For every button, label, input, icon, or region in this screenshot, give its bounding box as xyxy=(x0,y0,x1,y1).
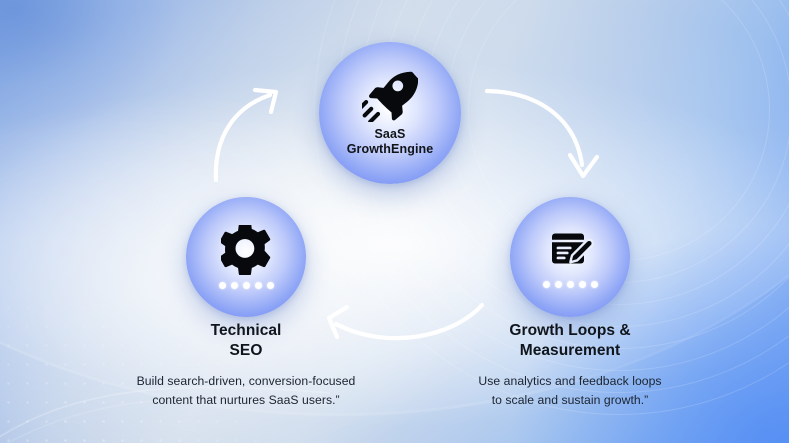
hub-node[interactable]: SaaS GrowthEngine xyxy=(319,42,461,184)
caption-technical-seo: Technical SEO Build search-driven, conve… xyxy=(66,321,426,411)
technical-seo-title-line1: Technical xyxy=(211,322,282,339)
technical-seo-description: Build search-driven, conversion-focused … xyxy=(66,372,426,412)
slide-canvas: SaaS GrowthEngine Technical SEO xyxy=(0,0,789,443)
gear-icon xyxy=(221,225,271,275)
dot xyxy=(219,282,226,289)
growth-loops-description: Use analytics and feedback loops to scal… xyxy=(405,372,735,412)
technical-seo-bubble[interactable] xyxy=(186,197,306,317)
caption-growth-loops-measurement: Growth Loops & Measurement Use analytics… xyxy=(405,321,735,411)
dot xyxy=(591,281,598,288)
growth-loops-bubble[interactable] xyxy=(510,197,630,317)
technical-seo-title-line2: SEO xyxy=(230,342,263,359)
growth-loops-description-line1: Use analytics and feedback loops xyxy=(478,374,661,388)
technical-seo-description-line1: Build search-driven, conversion-focused xyxy=(137,374,356,388)
step-node-growth-loops-measurement[interactable] xyxy=(510,197,630,317)
dot xyxy=(579,281,586,288)
hub-label-line1: SaaS xyxy=(347,127,434,142)
technical-seo-description-line2: content that nurtures SaaS users.” xyxy=(152,393,339,407)
growth-loops-progress-dots xyxy=(543,281,598,288)
dot xyxy=(255,282,262,289)
growth-loops-description-line2: to scale and sustain growth.” xyxy=(492,393,649,407)
dot xyxy=(543,281,550,288)
hub-label-line2: GrowthEngine xyxy=(347,142,434,157)
hub-bubble[interactable]: SaaS GrowthEngine xyxy=(319,42,461,184)
growth-loops-title-line1: Growth Loops & xyxy=(509,322,630,339)
technical-seo-title: Technical SEO xyxy=(66,321,426,361)
dot xyxy=(555,281,562,288)
document-pencil-icon xyxy=(546,226,594,274)
background-top-left-tint xyxy=(0,0,260,150)
dot xyxy=(567,281,574,288)
dot xyxy=(231,282,238,289)
technical-seo-progress-dots xyxy=(219,282,274,289)
step-node-technical-seo[interactable] xyxy=(186,197,306,317)
growth-loops-title: Growth Loops & Measurement xyxy=(405,321,735,361)
rocket-icon xyxy=(362,70,418,122)
hub-label: SaaS GrowthEngine xyxy=(347,127,434,157)
dot xyxy=(267,282,274,289)
growth-loops-title-line2: Measurement xyxy=(520,342,620,359)
dot xyxy=(243,282,250,289)
